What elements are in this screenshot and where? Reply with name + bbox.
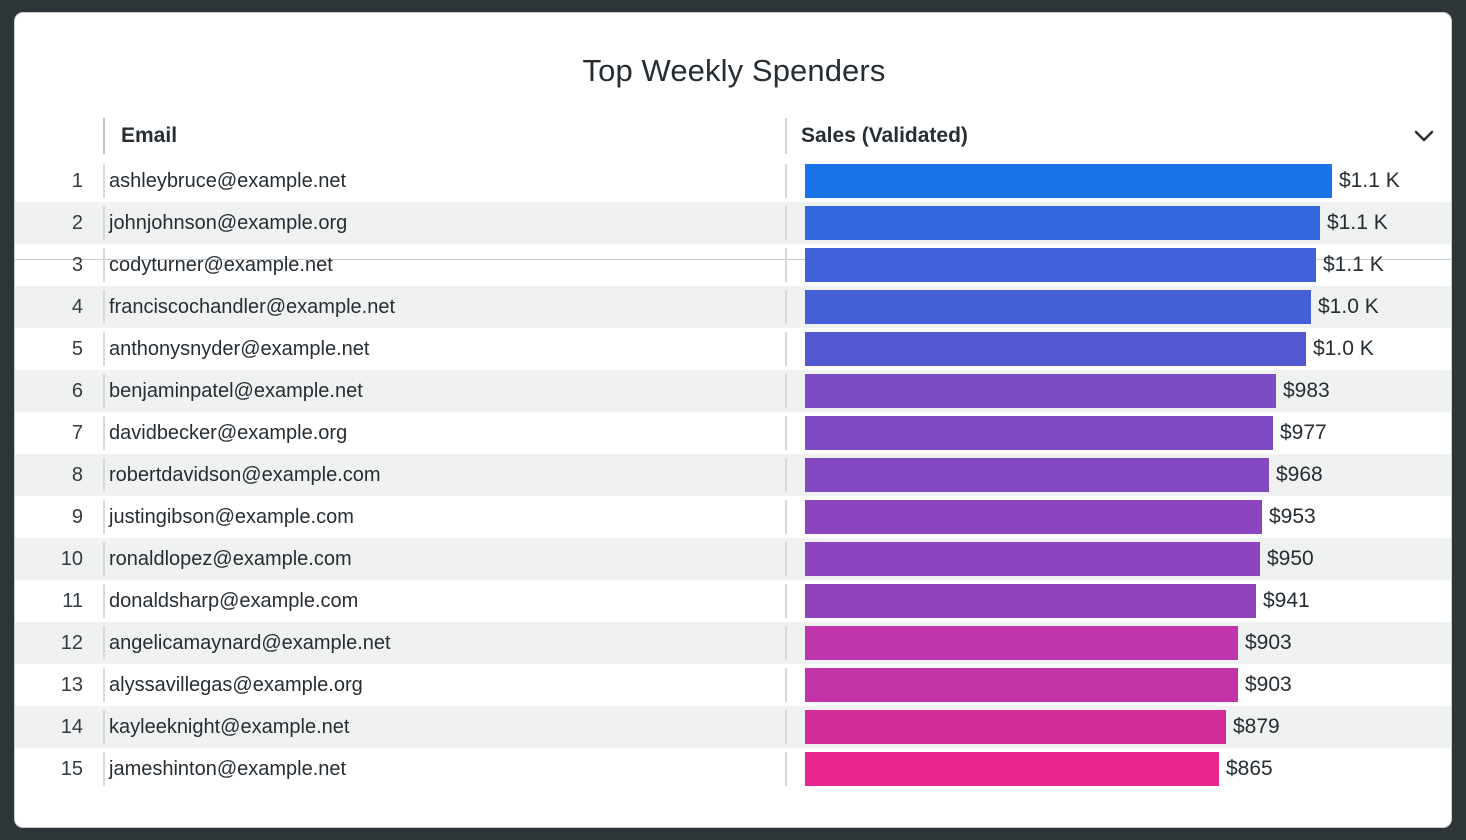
bar-value-label: $1.1 K bbox=[1339, 169, 1400, 193]
bar bbox=[805, 206, 1320, 240]
row-index: 2 bbox=[15, 202, 89, 244]
row-index: 14 bbox=[15, 706, 89, 748]
bar bbox=[805, 542, 1260, 576]
row-index: 13 bbox=[15, 664, 89, 706]
table-row[interactable]: 1ashleybruce@example.net$1.1 K bbox=[15, 160, 1452, 202]
column-divider-2 bbox=[785, 248, 787, 282]
bar-value-label: $903 bbox=[1245, 631, 1292, 655]
bar bbox=[805, 416, 1273, 450]
bar bbox=[805, 626, 1238, 660]
column-divider-1 bbox=[103, 626, 105, 660]
table-row[interactable]: 12angelicamaynard@example.net$903 bbox=[15, 622, 1452, 664]
table-row[interactable]: 2johnjohnson@example.org$1.1 K bbox=[15, 202, 1452, 244]
column-divider-2 bbox=[785, 458, 787, 492]
bar-value-label: $1.1 K bbox=[1323, 253, 1384, 277]
column-divider-2 bbox=[785, 542, 787, 576]
row-index: 11 bbox=[15, 580, 89, 622]
column-divider-2 bbox=[785, 374, 787, 408]
table-row[interactable]: 9justingibson@example.com$953 bbox=[15, 496, 1452, 538]
row-index: 10 bbox=[15, 538, 89, 580]
cell-sales-bar: $903 bbox=[805, 622, 1292, 664]
cell-sales-bar: $903 bbox=[805, 664, 1292, 706]
bar bbox=[805, 710, 1226, 744]
column-divider-2 bbox=[785, 752, 787, 786]
cell-email: ronaldlopez@example.com bbox=[109, 538, 352, 580]
cell-email: benjaminpatel@example.net bbox=[109, 370, 363, 412]
bar-value-label: $968 bbox=[1276, 463, 1323, 487]
cell-email: justingibson@example.com bbox=[109, 496, 354, 538]
column-divider-1 bbox=[103, 668, 105, 702]
row-index: 8 bbox=[15, 454, 89, 496]
row-index: 6 bbox=[15, 370, 89, 412]
table-row[interactable]: 8robertdavidson@example.com$968 bbox=[15, 454, 1452, 496]
column-divider-2 bbox=[785, 710, 787, 744]
column-divider-1 bbox=[103, 542, 105, 576]
bar bbox=[805, 374, 1276, 408]
bar bbox=[805, 248, 1316, 282]
cell-email: johnjohnson@example.org bbox=[109, 202, 347, 244]
table-header-row: Email Sales (Validated) bbox=[15, 112, 1452, 160]
cell-sales-bar: $953 bbox=[805, 496, 1316, 538]
bar-value-label: $1.0 K bbox=[1318, 295, 1379, 319]
column-divider-2 bbox=[785, 500, 787, 534]
cell-sales-bar: $1.1 K bbox=[805, 202, 1388, 244]
data-table: Email Sales (Validated) 1ashleybruce@exa… bbox=[15, 112, 1452, 790]
cell-sales-bar: $968 bbox=[805, 454, 1323, 496]
column-header-sales[interactable]: Sales (Validated) bbox=[801, 112, 968, 160]
page-title: Top Weekly Spenders bbox=[15, 53, 1452, 89]
bar bbox=[805, 668, 1238, 702]
bar bbox=[805, 290, 1311, 324]
column-divider-1 bbox=[103, 752, 105, 786]
bar bbox=[805, 500, 1262, 534]
column-divider-2 bbox=[785, 164, 787, 198]
row-index: 4 bbox=[15, 286, 89, 328]
table-row[interactable]: 15jameshinton@example.net$865 bbox=[15, 748, 1452, 790]
cell-sales-bar: $865 bbox=[805, 748, 1273, 790]
bar bbox=[805, 458, 1269, 492]
row-index: 5 bbox=[15, 328, 89, 370]
bar-value-label: $950 bbox=[1267, 547, 1314, 571]
cell-email: donaldsharp@example.com bbox=[109, 580, 358, 622]
row-index: 7 bbox=[15, 412, 89, 454]
column-divider-1 bbox=[103, 458, 105, 492]
cell-email: jameshinton@example.net bbox=[109, 748, 346, 790]
column-divider-2 bbox=[785, 668, 787, 702]
bar-value-label: $1.1 K bbox=[1327, 211, 1388, 235]
column-header-email[interactable]: Email bbox=[121, 112, 177, 160]
cell-email: kayleeknight@example.net bbox=[109, 706, 349, 748]
table-row[interactable]: 11donaldsharp@example.com$941 bbox=[15, 580, 1452, 622]
column-divider-2 bbox=[785, 584, 787, 618]
cell-sales-bar: $977 bbox=[805, 412, 1327, 454]
column-divider-1 bbox=[103, 500, 105, 534]
cell-email: alyssavillegas@example.org bbox=[109, 664, 363, 706]
cell-email: franciscochandler@example.net bbox=[109, 286, 395, 328]
row-index: 9 bbox=[15, 496, 89, 538]
bar bbox=[805, 332, 1306, 366]
table-row[interactable]: 14kayleeknight@example.net$879 bbox=[15, 706, 1452, 748]
cell-sales-bar: $1.1 K bbox=[805, 160, 1400, 202]
column-divider-1 bbox=[103, 332, 105, 366]
table-row[interactable]: 5anthonysnyder@example.net$1.0 K bbox=[15, 328, 1452, 370]
column-divider-1 bbox=[103, 374, 105, 408]
cell-sales-bar: $950 bbox=[805, 538, 1314, 580]
column-divider-1 bbox=[103, 290, 105, 324]
table-row[interactable]: 3codyturner@example.net$1.1 K bbox=[15, 244, 1452, 286]
chevron-down-icon[interactable] bbox=[1413, 112, 1435, 160]
bar bbox=[805, 752, 1219, 786]
column-divider-2 bbox=[785, 118, 787, 154]
column-divider-1 bbox=[103, 416, 105, 450]
row-index: 3 bbox=[15, 244, 89, 286]
column-divider-1 bbox=[103, 164, 105, 198]
column-divider-2 bbox=[785, 626, 787, 660]
column-divider-1 bbox=[103, 206, 105, 240]
cell-sales-bar: $983 bbox=[805, 370, 1330, 412]
table-row[interactable]: 6benjaminpatel@example.net$983 bbox=[15, 370, 1452, 412]
table-row[interactable]: 7davidbecker@example.org$977 bbox=[15, 412, 1452, 454]
cell-email: ashleybruce@example.net bbox=[109, 160, 346, 202]
bar bbox=[805, 584, 1256, 618]
chart-card: Top Weekly Spenders Email Sales (Validat… bbox=[14, 12, 1452, 828]
row-index: 12 bbox=[15, 622, 89, 664]
table-body: 1ashleybruce@example.net$1.1 K2johnjohns… bbox=[15, 160, 1452, 790]
bar bbox=[805, 164, 1332, 198]
row-index: 1 bbox=[15, 160, 89, 202]
column-divider-1 bbox=[103, 710, 105, 744]
cell-sales-bar: $879 bbox=[805, 706, 1280, 748]
cell-email: anthonysnyder@example.net bbox=[109, 328, 369, 370]
cell-sales-bar: $1.0 K bbox=[805, 328, 1374, 370]
column-divider-1 bbox=[103, 118, 105, 154]
column-divider-2 bbox=[785, 206, 787, 240]
table-row[interactable]: 10ronaldlopez@example.com$950 bbox=[15, 538, 1452, 580]
cell-sales-bar: $941 bbox=[805, 580, 1310, 622]
row-index: 15 bbox=[15, 748, 89, 790]
cell-email: robertdavidson@example.com bbox=[109, 454, 381, 496]
bar-value-label: $903 bbox=[1245, 673, 1292, 697]
bar-value-label: $865 bbox=[1226, 757, 1273, 781]
bar-value-label: $953 bbox=[1269, 505, 1316, 529]
cell-sales-bar: $1.1 K bbox=[805, 244, 1384, 286]
table-row[interactable]: 13alyssavillegas@example.org$903 bbox=[15, 664, 1452, 706]
column-divider-1 bbox=[103, 248, 105, 282]
window-frame: Top Weekly Spenders Email Sales (Validat… bbox=[0, 0, 1466, 840]
cell-sales-bar: $1.0 K bbox=[805, 286, 1379, 328]
bar-value-label: $879 bbox=[1233, 715, 1280, 739]
bar-value-label: $977 bbox=[1280, 421, 1327, 445]
column-divider-2 bbox=[785, 416, 787, 450]
bar-value-label: $983 bbox=[1283, 379, 1330, 403]
column-divider-2 bbox=[785, 290, 787, 324]
cell-email: angelicamaynard@example.net bbox=[109, 622, 391, 664]
column-divider-1 bbox=[103, 584, 105, 618]
bar-value-label: $1.0 K bbox=[1313, 337, 1374, 361]
table-row[interactable]: 4franciscochandler@example.net$1.0 K bbox=[15, 286, 1452, 328]
bar-value-label: $941 bbox=[1263, 589, 1310, 613]
cell-email: codyturner@example.net bbox=[109, 244, 333, 286]
cell-email: davidbecker@example.org bbox=[109, 412, 347, 454]
column-divider-2 bbox=[785, 332, 787, 366]
